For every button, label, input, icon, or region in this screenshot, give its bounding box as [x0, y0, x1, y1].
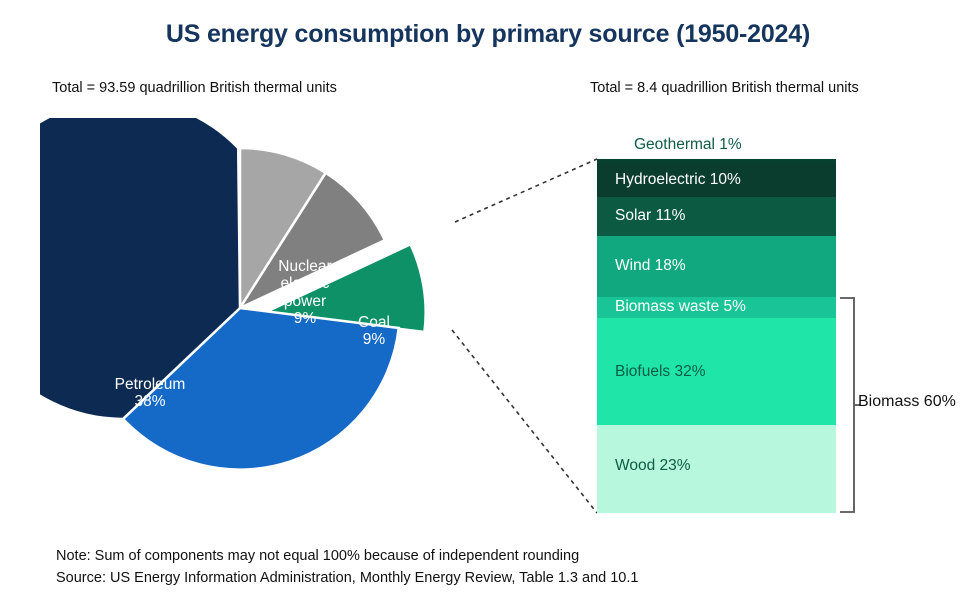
bar-segment-label-solar: Solar 11%: [615, 207, 685, 225]
pie-total-label: Total = 93.59 quadrillion British therma…: [52, 80, 337, 96]
bar-total-label: Total = 8.4 quadrillion British thermal …: [590, 80, 859, 96]
bar-segment-hydroelectric[interactable]: Hydroelectric 10%: [597, 164, 836, 197]
bar-segment-label-hydroelectric: Hydroelectric 10%: [615, 171, 741, 189]
biomass-bracket-label: Biomass 60%: [858, 393, 956, 411]
bar-segment-label-wind: Wind 18%: [615, 257, 686, 275]
bar-segment-wood[interactable]: Wood 23%: [597, 425, 836, 513]
page-title: US energy consumption by primary source …: [0, 20, 976, 49]
pie-chart: Petroleum 38% Nuclear electric power 9% …: [40, 118, 510, 518]
footnote-source: Source: US Energy Information Administra…: [56, 570, 638, 586]
bar-segment-label-biofuels: Biofuels 32%: [615, 363, 705, 381]
bar-label-geothermal: Geothermal 1%: [634, 136, 742, 154]
pie-svg: [40, 118, 510, 518]
footnote-note: Note: Sum of components may not equal 10…: [56, 548, 579, 564]
bar-segment-biomass-waste[interactable]: Biomass waste 5%: [597, 297, 836, 318]
bar-segment-label-biomass-waste: Biomass waste 5%: [615, 298, 746, 316]
bar-segment-label-wood: Wood 23%: [615, 457, 691, 475]
bar-segment-wind[interactable]: Wind 18%: [597, 236, 836, 297]
chart-root: US energy consumption by primary source …: [0, 0, 976, 592]
bar-segment-solar[interactable]: Solar 11%: [597, 197, 836, 236]
bar-segment-biofuels[interactable]: Biofuels 32%: [597, 318, 836, 425]
renewable-stacked-bar: Hydroelectric 10% Solar 11% Wind 18% Bio…: [597, 159, 836, 513]
